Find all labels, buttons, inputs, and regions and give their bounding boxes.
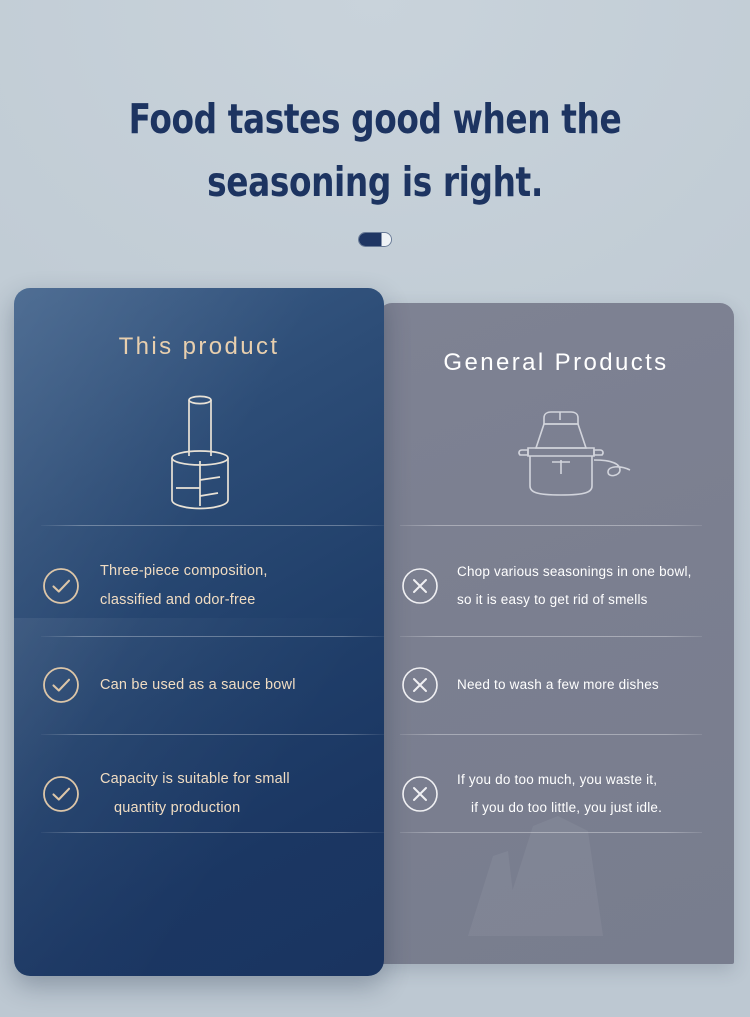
divider-line — [400, 525, 702, 526]
page-title-line-2: seasoning is right. — [75, 151, 675, 214]
general-products-card — [378, 303, 734, 964]
x-circle-icon — [400, 665, 440, 705]
list-item-line: Need to wash a few more dishes — [457, 671, 659, 699]
list-item-text: Capacity is suitable for small quantity … — [100, 765, 290, 823]
list-item: Three-piece composition, classified and … — [41, 556, 384, 616]
check-circle-icon — [41, 774, 81, 814]
divider-line — [41, 832, 384, 833]
list-item-line: if you do too little, you just idle. — [457, 794, 662, 822]
divider-line — [400, 734, 702, 735]
divider-line — [400, 636, 702, 637]
list-item-line: Capacity is suitable for small — [100, 765, 290, 794]
electric-chopper-illustration-icon — [508, 408, 636, 500]
list-item: If you do too much, you waste it, if you… — [400, 764, 705, 824]
promo-page: Food tastes good when the seasoning is r… — [0, 0, 750, 1017]
list-item-line: Chop various seasonings in one bowl, — [457, 558, 692, 586]
list-item-line: Can be used as a sauce bowl — [100, 671, 296, 700]
pill-divider-icon — [359, 233, 391, 246]
list-item-text: If you do too much, you waste it, if you… — [457, 766, 662, 822]
divider-line — [41, 525, 384, 526]
list-item-line: quantity production — [100, 794, 290, 823]
divider-line — [400, 832, 702, 833]
page-title: Food tastes good when the seasoning is r… — [75, 88, 675, 214]
list-item-text: Chop various seasonings in one bowl, so … — [457, 558, 692, 614]
this-product-card-title: This product — [14, 333, 384, 361]
manual-chopper-illustration-icon — [150, 392, 250, 510]
list-item-line: Three-piece composition, — [100, 557, 268, 586]
check-circle-icon — [41, 566, 81, 606]
list-item: Chop various seasonings in one bowl, so … — [400, 556, 705, 616]
list-item: Capacity is suitable for small quantity … — [41, 764, 384, 824]
page-title-line-1: Food tastes good when the — [75, 88, 675, 151]
divider-line — [41, 734, 384, 735]
list-item: Can be used as a sauce bowl — [41, 665, 384, 705]
list-item: Need to wash a few more dishes — [400, 665, 705, 705]
list-item-line: classified and odor-free — [100, 586, 268, 615]
general-products-card-title: General Products — [378, 349, 734, 377]
list-item-line: If you do too much, you waste it, — [457, 766, 662, 794]
x-circle-icon — [400, 566, 440, 606]
list-item-text: Three-piece composition, classified and … — [100, 557, 268, 615]
check-circle-icon — [41, 665, 81, 705]
divider-line — [41, 636, 384, 637]
x-circle-icon — [400, 774, 440, 814]
list-item-text: Can be used as a sauce bowl — [100, 671, 296, 700]
list-item-line: so it is easy to get rid of smells — [457, 586, 692, 614]
list-item-text: Need to wash a few more dishes — [457, 671, 659, 699]
